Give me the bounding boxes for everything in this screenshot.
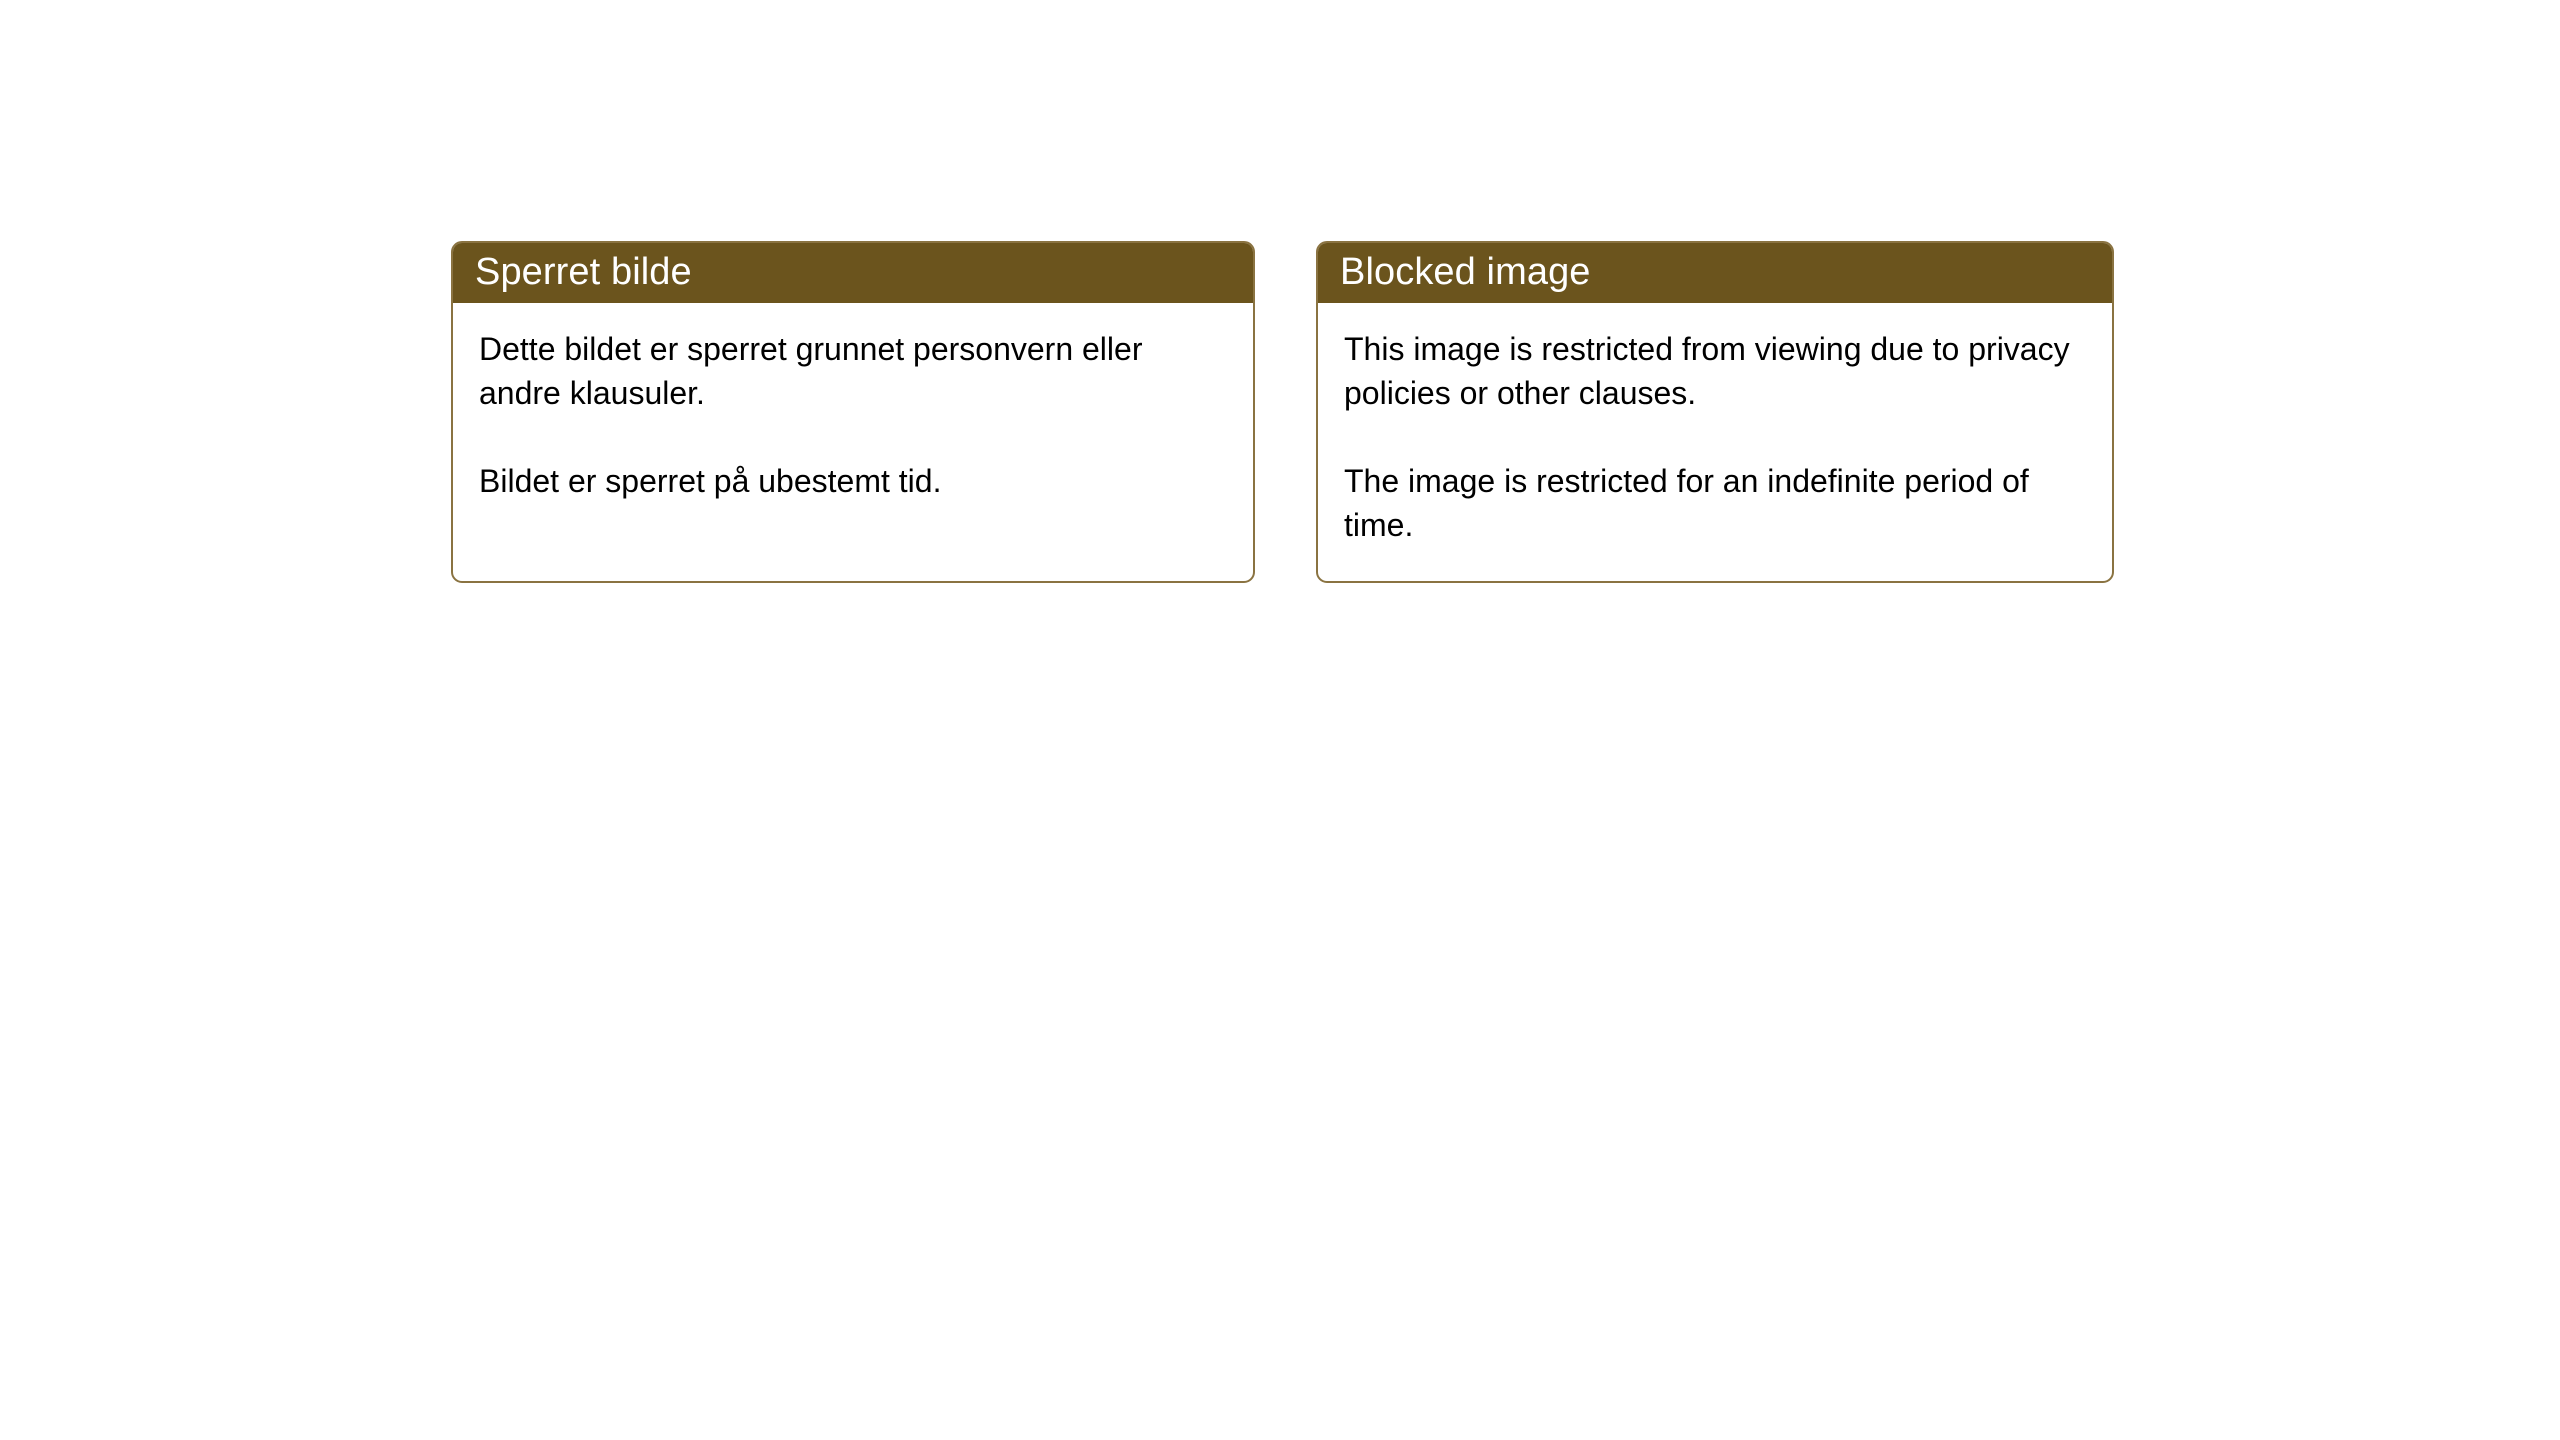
page-canvas: Sperret bilde Dette bildet er sperret gr… — [0, 0, 2560, 1440]
card-body: This image is restricted from viewing du… — [1318, 303, 2112, 581]
card-header-bar: Sperret bilde — [451, 241, 1255, 303]
card-title: Sperret bilde — [475, 253, 692, 291]
card-paragraph-primary: This image is restricted from viewing du… — [1344, 327, 2086, 415]
card-paragraph-secondary: Bildet er sperret på ubestemt tid. — [479, 459, 1227, 503]
card-header-bar: Blocked image — [1316, 241, 2114, 303]
blocked-image-notice-card-norwegian: Sperret bilde Dette bildet er sperret gr… — [451, 241, 1255, 583]
card-paragraph-primary: Dette bildet er sperret grunnet personve… — [479, 327, 1227, 415]
blocked-image-notice-card-english: Blocked image This image is restricted f… — [1316, 241, 2114, 583]
card-paragraph-secondary: The image is restricted for an indefinit… — [1344, 459, 2086, 547]
card-body: Dette bildet er sperret grunnet personve… — [453, 303, 1253, 581]
card-title: Blocked image — [1340, 253, 1591, 291]
